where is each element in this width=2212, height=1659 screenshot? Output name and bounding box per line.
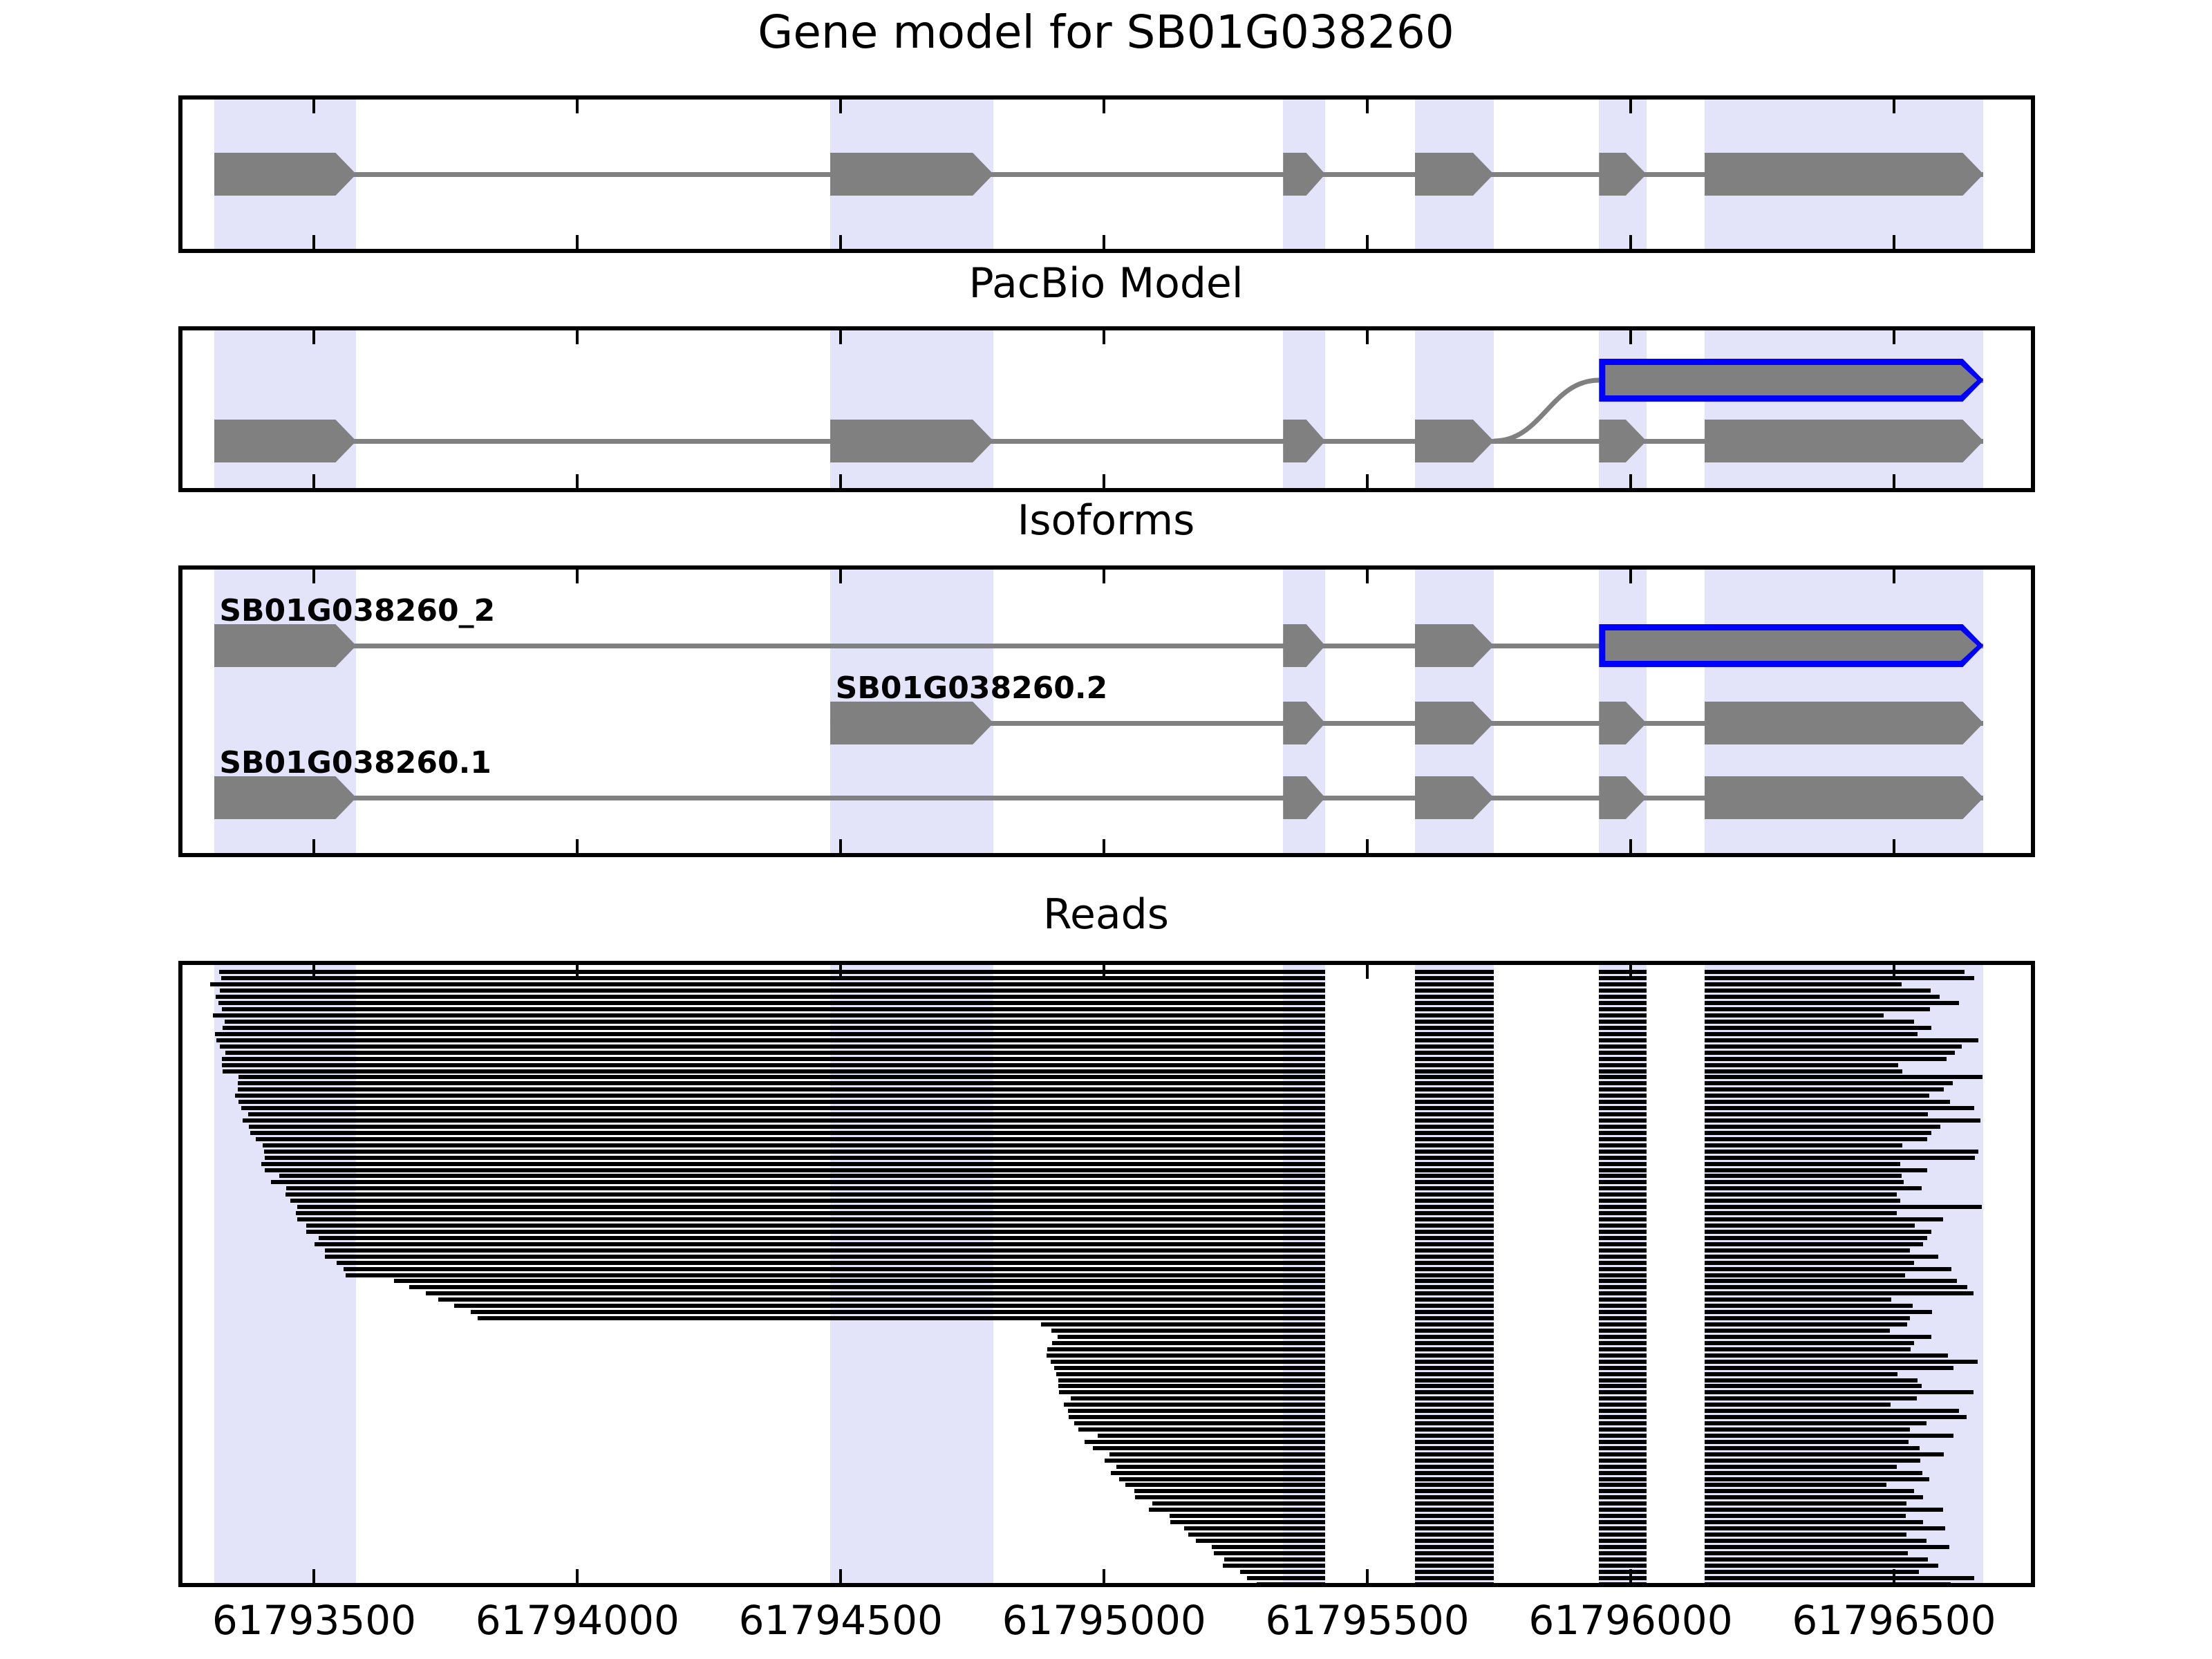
read-alignment xyxy=(1705,1508,1944,1512)
read-alignment xyxy=(1415,1020,1494,1024)
read-alignment xyxy=(1705,1007,1931,1011)
isoform-label: SB01G038260.2 xyxy=(836,671,1108,706)
read-alignment xyxy=(1705,1199,1900,1203)
read-alignment xyxy=(1415,1341,1494,1345)
read-alignment xyxy=(1599,1446,1647,1450)
read-alignment xyxy=(1599,1081,1647,1085)
read-alignment xyxy=(1223,1564,1325,1568)
exon xyxy=(1705,702,1984,744)
read-alignment xyxy=(1599,1366,1647,1370)
read-alignment xyxy=(1705,1255,1939,1259)
read-alignment xyxy=(241,1106,1325,1110)
read-alignment xyxy=(1705,1131,1931,1135)
read-alignment xyxy=(1116,1465,1325,1469)
reads-panel xyxy=(178,961,2035,1587)
axis-tick xyxy=(1103,100,1105,113)
read-alignment xyxy=(1599,1545,1647,1549)
read-alignment xyxy=(1705,1335,1931,1339)
read-alignment xyxy=(1705,1125,1940,1129)
read-alignment xyxy=(1705,1261,1915,1265)
read-alignment xyxy=(1415,1007,1494,1011)
read-alignment xyxy=(1599,1100,1647,1104)
read-alignment xyxy=(1705,1564,1938,1568)
read-alignment xyxy=(1599,1094,1647,1098)
read-alignment xyxy=(1599,1501,1647,1506)
read-alignment xyxy=(1705,1112,1929,1116)
read-alignment xyxy=(1599,1230,1647,1234)
exon xyxy=(214,624,357,667)
read-alignment xyxy=(225,1051,1325,1055)
read-alignment xyxy=(1415,1168,1494,1172)
read-alignment xyxy=(438,1297,1325,1302)
read-alignment xyxy=(1415,1205,1494,1209)
read-alignment xyxy=(1705,1483,1887,1487)
read-alignment xyxy=(1599,1205,1647,1209)
read-alignment xyxy=(1052,1341,1325,1345)
read-alignment xyxy=(1705,1248,1910,1253)
read-alignment xyxy=(1705,1514,1906,1518)
read-alignment xyxy=(238,1100,1325,1104)
read-alignment xyxy=(1705,1057,1947,1061)
read-alignment xyxy=(1705,1341,1914,1345)
read-alignment xyxy=(1705,1180,1904,1184)
read-alignment xyxy=(337,1261,1325,1265)
exon xyxy=(1705,153,1984,196)
read-alignment xyxy=(1415,1057,1494,1061)
read-alignment xyxy=(1599,1310,1647,1314)
read-alignment xyxy=(478,1316,1325,1320)
read-alignment xyxy=(1705,1471,1923,1475)
highlighted-exon-fill xyxy=(1605,630,1977,661)
gene-model-panel xyxy=(178,95,2035,253)
read-alignment xyxy=(1093,1446,1325,1450)
read-alignment xyxy=(325,1248,1325,1253)
read-alignment xyxy=(1705,1297,1891,1302)
read-alignment xyxy=(1415,1001,1494,1005)
read-alignment xyxy=(1415,1576,1494,1580)
read-alignment xyxy=(409,1285,1325,1289)
isoform-label: SB01G038260.1 xyxy=(219,745,491,780)
read-alignment xyxy=(1599,1564,1647,1568)
read-alignment xyxy=(1599,1533,1647,1537)
read-alignment xyxy=(1599,1273,1647,1277)
read-alignment xyxy=(256,1137,1325,1141)
read-alignment xyxy=(1184,1526,1326,1530)
read-alignment xyxy=(1599,1304,1647,1308)
read-alignment xyxy=(1149,1508,1325,1512)
read-alignment xyxy=(1071,1396,1325,1400)
read-alignment xyxy=(1415,1570,1494,1574)
axis-tick xyxy=(1366,839,1369,853)
read-alignment xyxy=(1599,1162,1647,1166)
x-tick-label: 61794500 xyxy=(702,1597,979,1644)
read-alignment xyxy=(1415,1465,1494,1469)
read-alignment xyxy=(1705,1434,1954,1438)
read-alignment xyxy=(1705,1087,1944,1091)
read-alignment xyxy=(279,1174,1326,1178)
read-alignment xyxy=(1415,1150,1494,1154)
read-alignment xyxy=(1705,1186,1922,1190)
read-alignment xyxy=(1599,976,1647,980)
read-alignment xyxy=(263,1143,1325,1147)
read-alignment xyxy=(1599,1186,1647,1190)
read-alignment xyxy=(1415,1032,1494,1036)
read-alignment xyxy=(1599,1557,1647,1562)
read-alignment xyxy=(1415,1434,1494,1438)
read-alignment xyxy=(1599,1192,1647,1197)
read-alignment xyxy=(1599,1421,1647,1425)
read-alignment xyxy=(1415,1087,1494,1091)
read-alignment xyxy=(1599,1471,1647,1475)
read-alignment xyxy=(471,1310,1326,1314)
axis-tick xyxy=(839,100,842,113)
axis-tick xyxy=(1366,100,1369,113)
read-alignment xyxy=(1415,1384,1494,1388)
read-alignment xyxy=(1415,1564,1494,1568)
axis-tick xyxy=(839,570,842,583)
read-alignment xyxy=(1705,1576,1974,1580)
read-alignment xyxy=(1705,1360,1978,1364)
read-alignment xyxy=(1705,1403,1891,1407)
read-alignment xyxy=(1415,1261,1494,1265)
read-alignment xyxy=(1170,1514,1326,1518)
read-alignment xyxy=(1599,1026,1647,1030)
read-alignment xyxy=(1415,988,1494,993)
axis-tick xyxy=(312,570,315,583)
read-alignment xyxy=(1705,1477,1929,1481)
read-alignment xyxy=(1415,1396,1494,1400)
read-alignment xyxy=(222,1063,1326,1067)
read-alignment xyxy=(1599,1131,1647,1135)
read-alignment xyxy=(1415,1495,1494,1499)
read-alignment xyxy=(1599,1335,1647,1339)
reads-plot xyxy=(182,965,2031,1583)
read-alignment xyxy=(1415,1415,1494,1419)
read-alignment xyxy=(238,1087,1325,1091)
read-alignment xyxy=(1415,1242,1494,1246)
read-alignment xyxy=(1214,1551,1325,1555)
read-alignment xyxy=(1415,1483,1494,1487)
read-alignment xyxy=(1415,1582,1494,1583)
read-alignment xyxy=(1415,1514,1494,1518)
read-alignment xyxy=(1134,1489,1325,1493)
read-alignment xyxy=(1705,1106,1975,1110)
read-alignment xyxy=(248,1112,1325,1116)
read-alignment xyxy=(1078,1427,1325,1432)
read-alignment xyxy=(1599,1020,1647,1024)
read-alignment xyxy=(1599,1180,1647,1184)
read-alignment xyxy=(1599,995,1647,999)
read-alignment xyxy=(1058,1384,1325,1388)
read-alignment xyxy=(1705,1150,1978,1154)
axis-tick xyxy=(1629,570,1632,583)
read-alignment xyxy=(225,1020,1326,1024)
read-alignment xyxy=(1705,1224,1915,1228)
read-alignment xyxy=(1415,1118,1494,1123)
read-alignment xyxy=(1705,1100,1950,1104)
read-alignment xyxy=(1415,982,1494,986)
read-alignment xyxy=(1599,1057,1647,1061)
gene-model-plot xyxy=(182,100,2031,249)
axis-tick xyxy=(1893,570,1895,583)
read-alignment xyxy=(1415,1230,1494,1234)
read-alignment xyxy=(1599,1372,1647,1376)
read-alignment xyxy=(1599,1143,1647,1147)
x-tick-label: 61796000 xyxy=(1492,1597,1769,1644)
read-alignment xyxy=(1705,1020,1914,1024)
read-alignment xyxy=(1599,1261,1647,1265)
axis-tick xyxy=(1629,839,1632,853)
read-alignment xyxy=(1599,1051,1647,1055)
read-alignment xyxy=(1415,1316,1494,1320)
read-alignment xyxy=(1705,970,1965,974)
read-alignment xyxy=(1135,1495,1326,1499)
pacbio-model-plot xyxy=(182,330,2031,488)
read-alignment xyxy=(1240,1570,1325,1574)
read-alignment xyxy=(1599,1211,1647,1215)
read-alignment xyxy=(1415,1131,1494,1135)
read-alignment xyxy=(235,1094,1325,1098)
read-alignment xyxy=(1599,1520,1647,1524)
exon xyxy=(214,153,357,196)
axis-tick xyxy=(312,235,315,249)
read-alignment xyxy=(1599,1360,1647,1364)
read-alignment xyxy=(1599,1075,1647,1079)
read-alignment xyxy=(1125,1483,1325,1487)
read-alignment xyxy=(1705,1557,1928,1562)
read-alignment xyxy=(1188,1533,1325,1537)
read-alignment xyxy=(1257,1582,1325,1583)
read-alignment xyxy=(1599,1390,1647,1394)
read-alignment xyxy=(1599,1032,1647,1036)
read-alignment xyxy=(1415,1267,1494,1271)
x-tick-label: 61794000 xyxy=(439,1597,715,1644)
read-alignment xyxy=(265,1156,1326,1160)
read-alignment xyxy=(1415,1081,1494,1085)
read-alignment xyxy=(1415,1360,1494,1364)
read-alignment xyxy=(1599,1007,1647,1011)
read-alignment xyxy=(1058,1378,1325,1382)
read-alignment xyxy=(1415,1446,1494,1450)
read-alignment xyxy=(222,1057,1325,1061)
read-alignment xyxy=(1599,1526,1647,1530)
read-alignment xyxy=(1599,1297,1647,1302)
axis-tick xyxy=(576,235,579,249)
read-alignment xyxy=(1047,1353,1325,1358)
read-alignment xyxy=(290,1199,1325,1203)
axis-tick xyxy=(1103,839,1105,853)
read-alignment xyxy=(1415,1285,1494,1289)
read-alignment xyxy=(1599,1329,1647,1333)
read-alignment xyxy=(1599,1001,1647,1005)
read-alignment xyxy=(1054,1366,1326,1370)
read-alignment xyxy=(1705,1279,1957,1283)
read-alignment xyxy=(1705,1378,1918,1382)
isoform-label: SB01G038260_2 xyxy=(219,593,495,628)
read-alignment xyxy=(1415,1347,1494,1351)
read-alignment xyxy=(1599,1341,1647,1345)
read-alignment xyxy=(1415,1353,1494,1358)
read-alignment xyxy=(1415,1186,1494,1190)
pacbio-model-panel xyxy=(178,326,2035,492)
read-alignment xyxy=(1599,1087,1647,1091)
read-alignment xyxy=(1705,1440,1909,1444)
read-alignment xyxy=(1415,1255,1494,1259)
read-alignment xyxy=(1599,1156,1647,1160)
read-alignment xyxy=(1415,1199,1494,1203)
read-alignment xyxy=(1599,1570,1647,1574)
read-alignment xyxy=(1705,1304,1913,1308)
read-alignment xyxy=(296,1211,1326,1215)
read-alignment xyxy=(1415,1069,1494,1074)
axis-tick xyxy=(1893,100,1895,113)
read-alignment xyxy=(1599,1013,1647,1018)
axis-tick xyxy=(839,1569,842,1583)
read-alignment xyxy=(1415,1026,1494,1030)
read-alignment xyxy=(1599,970,1647,974)
read-alignment xyxy=(218,1001,1325,1005)
read-alignment xyxy=(1415,1112,1494,1116)
read-alignment xyxy=(1415,1156,1494,1160)
read-alignment xyxy=(1415,1192,1494,1197)
read-alignment xyxy=(1599,1576,1647,1580)
read-alignment xyxy=(1599,1150,1647,1154)
read-alignment xyxy=(1415,1322,1494,1327)
read-alignment xyxy=(1415,1403,1494,1407)
read-alignment xyxy=(1705,1205,1982,1209)
read-alignment xyxy=(1705,1372,1897,1376)
read-alignment xyxy=(1705,1192,1897,1197)
read-alignment xyxy=(238,1075,1325,1079)
axis-tick xyxy=(839,839,842,853)
axis-tick xyxy=(1366,235,1369,249)
x-tick-label: 61795000 xyxy=(966,1597,1242,1644)
read-alignment xyxy=(346,1273,1325,1277)
read-alignment xyxy=(394,1279,1325,1283)
read-alignment xyxy=(1705,1217,1943,1221)
read-alignment xyxy=(1415,1180,1494,1184)
x-tick-label: 61793500 xyxy=(176,1597,452,1644)
read-alignment xyxy=(1074,1421,1325,1425)
read-alignment xyxy=(1705,1533,1907,1537)
read-alignment xyxy=(1415,1557,1494,1562)
read-alignment xyxy=(1415,1143,1494,1147)
read-alignment xyxy=(344,1267,1325,1271)
read-alignment xyxy=(216,995,1326,999)
read-alignment xyxy=(264,1150,1325,1154)
isoforms-panel: SB01G038260_2SB01G038260.2SB01G038260.1 xyxy=(178,565,2035,857)
read-alignment xyxy=(1705,1329,1890,1333)
read-alignment xyxy=(1705,1267,1951,1271)
read-alignment xyxy=(1415,1335,1494,1339)
read-alignment xyxy=(1415,1038,1494,1042)
read-alignment xyxy=(1599,1255,1647,1259)
read-alignment xyxy=(1599,1508,1647,1512)
read-alignment xyxy=(1415,1501,1494,1506)
read-alignment xyxy=(220,988,1325,993)
read-alignment xyxy=(271,1180,1325,1184)
read-alignment xyxy=(1705,1384,1922,1388)
read-alignment xyxy=(1705,1366,1953,1370)
read-alignment xyxy=(1599,1459,1647,1463)
read-alignment xyxy=(1415,1094,1494,1098)
read-alignment xyxy=(1599,1409,1647,1413)
read-alignment xyxy=(1599,1236,1647,1240)
read-alignment xyxy=(1109,1452,1325,1456)
read-alignment xyxy=(1705,1570,1920,1574)
read-alignment xyxy=(1415,1013,1494,1018)
read-alignment xyxy=(1705,1038,1978,1042)
read-alignment xyxy=(261,1162,1325,1166)
read-alignment xyxy=(1705,1291,1974,1295)
axis-tick xyxy=(1103,235,1105,249)
read-alignment xyxy=(1047,1347,1325,1351)
read-alignment xyxy=(1599,1440,1647,1444)
read-alignment xyxy=(1599,982,1647,986)
read-alignment xyxy=(1705,1310,1933,1314)
read-alignment xyxy=(1705,1459,1920,1463)
read-alignment xyxy=(1415,1533,1494,1537)
exon xyxy=(830,702,993,744)
read-alignment xyxy=(1051,1360,1325,1364)
read-alignment xyxy=(1599,1316,1647,1320)
read-alignment xyxy=(1415,1390,1494,1394)
read-alignment xyxy=(1415,1545,1494,1549)
read-alignment xyxy=(1415,1409,1494,1413)
axis-tick xyxy=(1103,1569,1105,1583)
read-alignment xyxy=(1599,1168,1647,1172)
read-alignment xyxy=(1152,1501,1325,1506)
read-alignment xyxy=(1599,1063,1647,1067)
read-alignment xyxy=(1212,1545,1325,1549)
read-alignment xyxy=(1705,1347,1911,1351)
axis-tick xyxy=(1893,839,1895,853)
read-alignment xyxy=(1705,1032,1918,1036)
read-alignment xyxy=(1599,1112,1647,1116)
read-alignment xyxy=(215,1032,1325,1036)
isoforms-panel-title: Isoforms xyxy=(0,496,2212,545)
read-alignment xyxy=(1415,1489,1494,1493)
read-alignment xyxy=(1599,1137,1647,1141)
read-alignment xyxy=(1705,1273,1906,1277)
read-alignment xyxy=(1415,976,1494,980)
axis-tick xyxy=(1366,1569,1369,1583)
read-alignment xyxy=(1705,988,1931,993)
read-alignment xyxy=(1705,1285,1967,1289)
read-alignment xyxy=(1599,1322,1647,1327)
read-alignment xyxy=(1705,1489,1914,1493)
read-alignment xyxy=(1599,1551,1647,1555)
read-alignment xyxy=(1599,1489,1647,1493)
read-alignment xyxy=(216,1038,1325,1042)
figure-title: Gene model for SB01G038260 xyxy=(0,6,2212,59)
read-alignment xyxy=(1415,995,1494,999)
read-alignment xyxy=(1705,1446,1920,1450)
read-alignment xyxy=(250,1131,1325,1135)
read-alignment xyxy=(1705,1520,1924,1524)
read-alignment xyxy=(219,970,1325,974)
read-alignment xyxy=(1415,1551,1494,1555)
exon xyxy=(214,776,357,819)
read-alignment xyxy=(1705,1409,1959,1413)
read-alignment xyxy=(1599,988,1647,993)
read-alignment xyxy=(1415,1459,1494,1463)
read-alignment xyxy=(1705,1582,1951,1583)
axis-tick xyxy=(312,100,315,113)
read-alignment xyxy=(1599,1347,1647,1351)
read-alignment xyxy=(1170,1520,1325,1524)
read-alignment xyxy=(1705,1013,1884,1018)
